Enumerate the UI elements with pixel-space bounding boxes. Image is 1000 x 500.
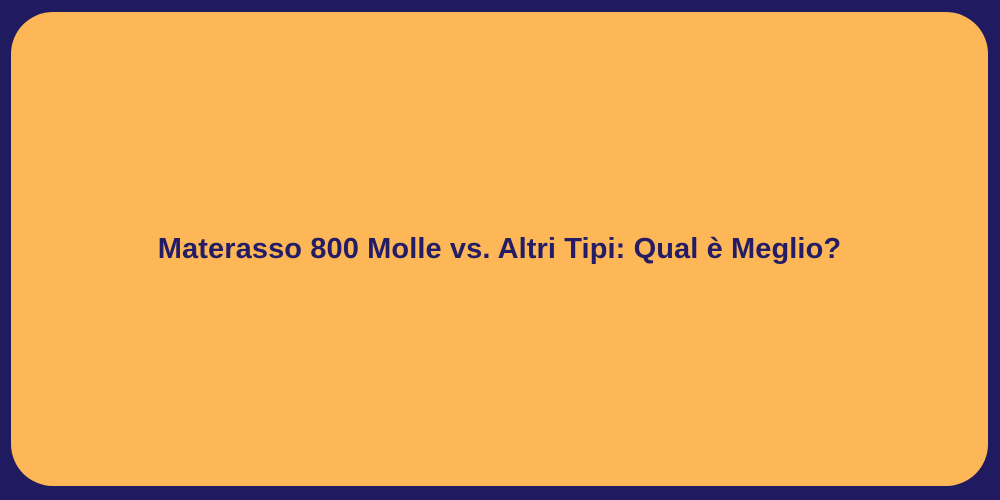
page-frame: Materasso 800 Molle vs. Altri Tipi: Qual…: [0, 0, 1000, 500]
hero-card: Materasso 800 Molle vs. Altri Tipi: Qual…: [11, 12, 988, 486]
page-title: Materasso 800 Molle vs. Altri Tipi: Qual…: [118, 231, 881, 267]
